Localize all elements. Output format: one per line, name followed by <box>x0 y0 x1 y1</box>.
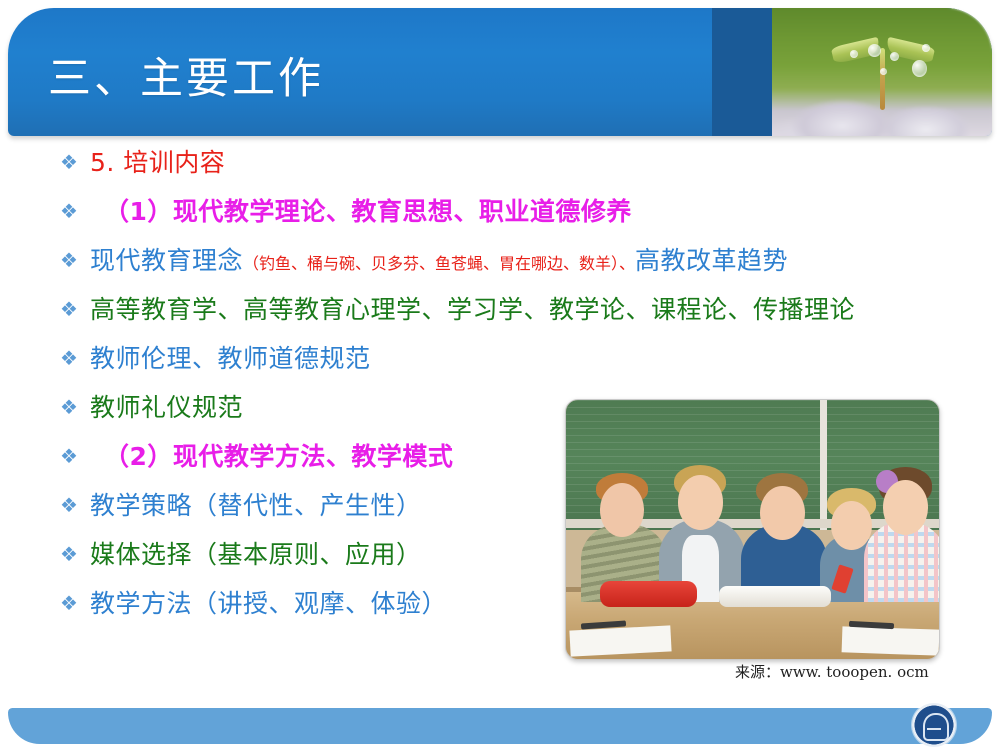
bullet-diamond-icon: ❖ <box>60 299 76 319</box>
list-item: ❖ （1）现代教学理论、教育思想、职业道德修养 <box>0 199 1000 248</box>
list-item-label: 教学方法（讲授、观摩、体验） <box>90 591 447 616</box>
paper-sheet-right <box>842 626 940 655</box>
list-item-label-tail: 高教改革趋势 <box>635 248 788 273</box>
list-item-label: 教师礼仪规范 <box>90 395 243 420</box>
bullet-diamond-icon: ❖ <box>60 593 76 613</box>
list-item: ❖ 5. 培训内容 <box>0 150 1000 199</box>
child-boy-center-face <box>760 486 805 540</box>
classroom-photo <box>565 399 940 660</box>
list-item-label: 教师伦理、教师道德规范 <box>90 346 371 371</box>
child-girl-back-face <box>831 501 872 550</box>
list-item: ❖ 现代教育理念 （钓鱼、桶与碗、贝多芬、鱼苍蝇、胃在哪边、数羊）、 高教改革趋… <box>0 248 1000 297</box>
list-item-label: 教学策略（替代性、产生性） <box>90 493 422 518</box>
list-item-label: （1）现代教学理论、教育思想、职业道德修养 <box>104 199 632 224</box>
photo-credit: 来源：www. tooopen. ocm <box>735 661 929 682</box>
bullet-diamond-icon: ❖ <box>60 397 76 417</box>
water-droplet-icon <box>850 50 858 58</box>
teacher-face <box>678 475 723 529</box>
bullet-diamond-icon: ❖ <box>60 495 76 515</box>
bullet-diamond-icon: ❖ <box>60 446 76 466</box>
university-seal-logo <box>912 703 956 747</box>
list-item-label: 媒体选择（基本原则、应用） <box>90 542 422 567</box>
chalkboard-frame-vertical <box>820 400 827 530</box>
list-item-label: 高等教育学、高等教育心理学、学习学、教学论、课程论、传播理论 <box>90 297 855 322</box>
slide-header-band: 三、主要工作 <box>8 8 992 136</box>
seal-inner-bar <box>927 728 941 730</box>
rolled-paper <box>719 586 831 607</box>
child-girl-right-face <box>883 480 928 534</box>
water-droplet-icon <box>880 68 887 75</box>
bullet-diamond-icon: ❖ <box>60 250 76 270</box>
sprout-photo <box>772 8 992 136</box>
water-droplet-icon <box>912 60 927 77</box>
water-droplet-icon <box>922 44 930 52</box>
list-item-label: （2）现代教学方法、教学模式 <box>104 444 453 469</box>
water-droplet-icon <box>868 44 881 57</box>
slide-footer-band <box>8 708 992 744</box>
bullet-diamond-icon: ❖ <box>60 348 76 368</box>
list-item-annotation: （钓鱼、桶与碗、贝多芬、鱼苍蝇、胃在哪边、数羊）、 <box>243 250 635 274</box>
page-title: 三、主要工作 <box>48 44 324 106</box>
bullet-diamond-icon: ❖ <box>60 201 76 221</box>
list-item-label: 5. 培训内容 <box>90 150 225 175</box>
slide-canvas: 三、主要工作 ❖ 5. 培训内容 ❖ （1）现代教学理论、教育思想、职业道德修养… <box>0 0 1000 750</box>
list-item-label: 现代教育理念 <box>90 248 243 273</box>
water-droplet-icon <box>890 52 899 61</box>
list-item: ❖ 教师伦理、教师道德规范 <box>0 346 1000 395</box>
list-item: ❖ 高等教育学、高等教育心理学、学习学、教学论、课程论、传播理论 <box>0 297 1000 346</box>
bullet-diamond-icon: ❖ <box>60 544 76 564</box>
red-pencil-case <box>600 581 697 607</box>
header-accent-stripe <box>712 8 772 136</box>
bullet-diamond-icon: ❖ <box>60 152 76 172</box>
paper-sheet-left <box>569 625 671 656</box>
sprout-stem-icon <box>880 48 885 110</box>
